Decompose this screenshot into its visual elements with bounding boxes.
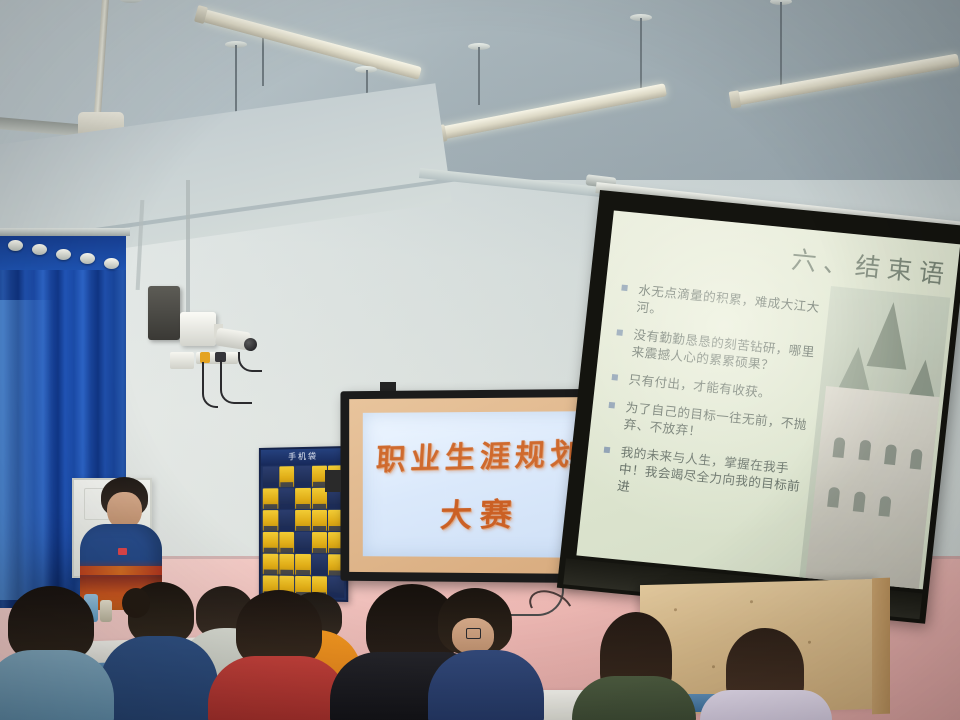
suspension-wire <box>478 47 480 105</box>
lcd-title-line1: 职业生涯规划 <box>363 428 600 479</box>
presenter-badge <box>118 548 127 555</box>
student-torso <box>100 636 218 720</box>
castle-window <box>833 437 846 458</box>
phone-pocket[interactable] <box>279 510 294 531</box>
phone-pocket[interactable] <box>312 532 328 553</box>
phone-pocket[interactable] <box>263 554 278 575</box>
suspension-wire <box>780 2 782 88</box>
slide-bullet-item: 水无点滴量的积累，难成大江大河。 <box>617 279 832 333</box>
curtain-rail <box>0 228 130 236</box>
castle-window <box>910 449 923 470</box>
castle-window <box>858 440 871 461</box>
castle-building <box>805 386 942 589</box>
wood-knot <box>712 665 715 668</box>
eyeglasses-icon <box>466 628 481 639</box>
lcd-side-bracket-left <box>325 470 341 492</box>
wood-knot <box>808 641 811 644</box>
electrical-box <box>180 312 216 346</box>
phone-pocket[interactable] <box>279 488 294 509</box>
curtain-grommet <box>32 244 47 255</box>
projection-screen[interactable]: 六、结束语 水无点滴量的积累，难成大江大河。 没有勤勤恳恳的刻苦钻研，哪里来震撼… <box>557 190 960 624</box>
slide-bullet-item: 没有勤勤恳恳的刻苦钻研，哪里来震撼人心的累累硕果？ <box>612 324 827 378</box>
student-torso <box>0 650 114 720</box>
organizer-header-label: 手机袋 <box>261 448 346 466</box>
projection-screen-surface: 六、结束语 水无点滴量的积累，难成大江大河。 没有勤勤恳恳的刻苦钻研，哪里来震撼… <box>576 210 960 589</box>
curtain-grommet <box>8 240 23 251</box>
slide-title: 六、结束语 <box>790 240 953 291</box>
phone-pocket[interactable] <box>279 554 294 575</box>
wood-knot <box>674 608 677 611</box>
student-torso <box>208 656 348 720</box>
castle-window <box>853 491 866 512</box>
curtain-grommet <box>104 258 119 269</box>
slide-bullet-text: 我的未来与人生，掌握在我手中！我会竭尽全力向我的目标前进 <box>616 444 801 494</box>
phone-pocket[interactable] <box>295 532 310 553</box>
student-torso <box>428 650 544 720</box>
power-cable <box>202 362 218 408</box>
phone-pocket[interactable] <box>295 510 310 531</box>
phone-pocket[interactable] <box>263 466 278 487</box>
castle-window <box>827 487 840 508</box>
phone-pocket[interactable] <box>279 466 294 487</box>
phone-pocket[interactable] <box>295 466 310 487</box>
student-torso <box>572 676 696 720</box>
castle-window <box>878 496 891 517</box>
phone-pocket[interactable] <box>263 532 278 553</box>
square-bullet-icon <box>604 447 611 454</box>
phone-pocket[interactable] <box>295 554 310 575</box>
castle-tower-roof <box>867 300 914 370</box>
curtain-backlight <box>0 300 54 600</box>
square-bullet-icon <box>612 374 619 381</box>
conduit-pipe <box>186 180 190 312</box>
student-hair-bun <box>122 588 150 618</box>
wall-speaker <box>148 286 180 340</box>
wood-knot <box>750 600 753 603</box>
curtain-grommet <box>80 253 95 264</box>
phone-pocket[interactable] <box>263 510 278 531</box>
camera-lens-icon <box>244 338 257 351</box>
slide-bullet-text: 只有付出，才能有收获。 <box>628 372 772 401</box>
slide-bullet-list: 水无点滴量的积累，难成大江大河。 没有勤勤恳恳的刻苦钻研，哪里来震撼人心的累累硕… <box>596 279 831 523</box>
square-bullet-icon <box>616 329 623 336</box>
phone-pocket[interactable] <box>312 554 328 575</box>
student-torso <box>700 690 832 720</box>
slide-bullet-text: 没有勤勤恳恳的刻苦钻研，哪里来震撼人心的累累硕果？ <box>631 327 816 373</box>
phone-pocket[interactable] <box>279 532 294 553</box>
phone-pocket[interactable] <box>312 510 328 531</box>
square-bullet-icon <box>621 285 628 292</box>
plywood-edge <box>872 578 890 715</box>
slide-bullet-text: 为了自己的目标一往无前，不抛弃、不放弃！ <box>623 400 808 439</box>
slide-bullet-item: 我的未来与人生，掌握在我手中！我会竭尽全力向我的目标前进 <box>597 441 814 512</box>
classroom-photo: 手机袋 <box>0 0 960 720</box>
curtain-grommet <box>56 249 71 260</box>
castle-tower-roof <box>838 345 875 392</box>
junction-box <box>170 352 194 369</box>
presenter-sweater-stripe <box>80 566 162 575</box>
square-bullet-icon <box>609 402 616 409</box>
slide-bullet-item: 为了自己的目标一往无前，不抛弃、不放弃！ <box>604 397 819 451</box>
phone-pocket[interactable] <box>295 488 310 509</box>
castle-window <box>884 444 897 465</box>
suspension-wire <box>640 18 642 96</box>
desk-cup <box>100 600 112 622</box>
phone-pocket[interactable] <box>263 488 278 509</box>
slide-bullet-text: 水无点滴量的积累，难成大江大河。 <box>636 282 821 316</box>
